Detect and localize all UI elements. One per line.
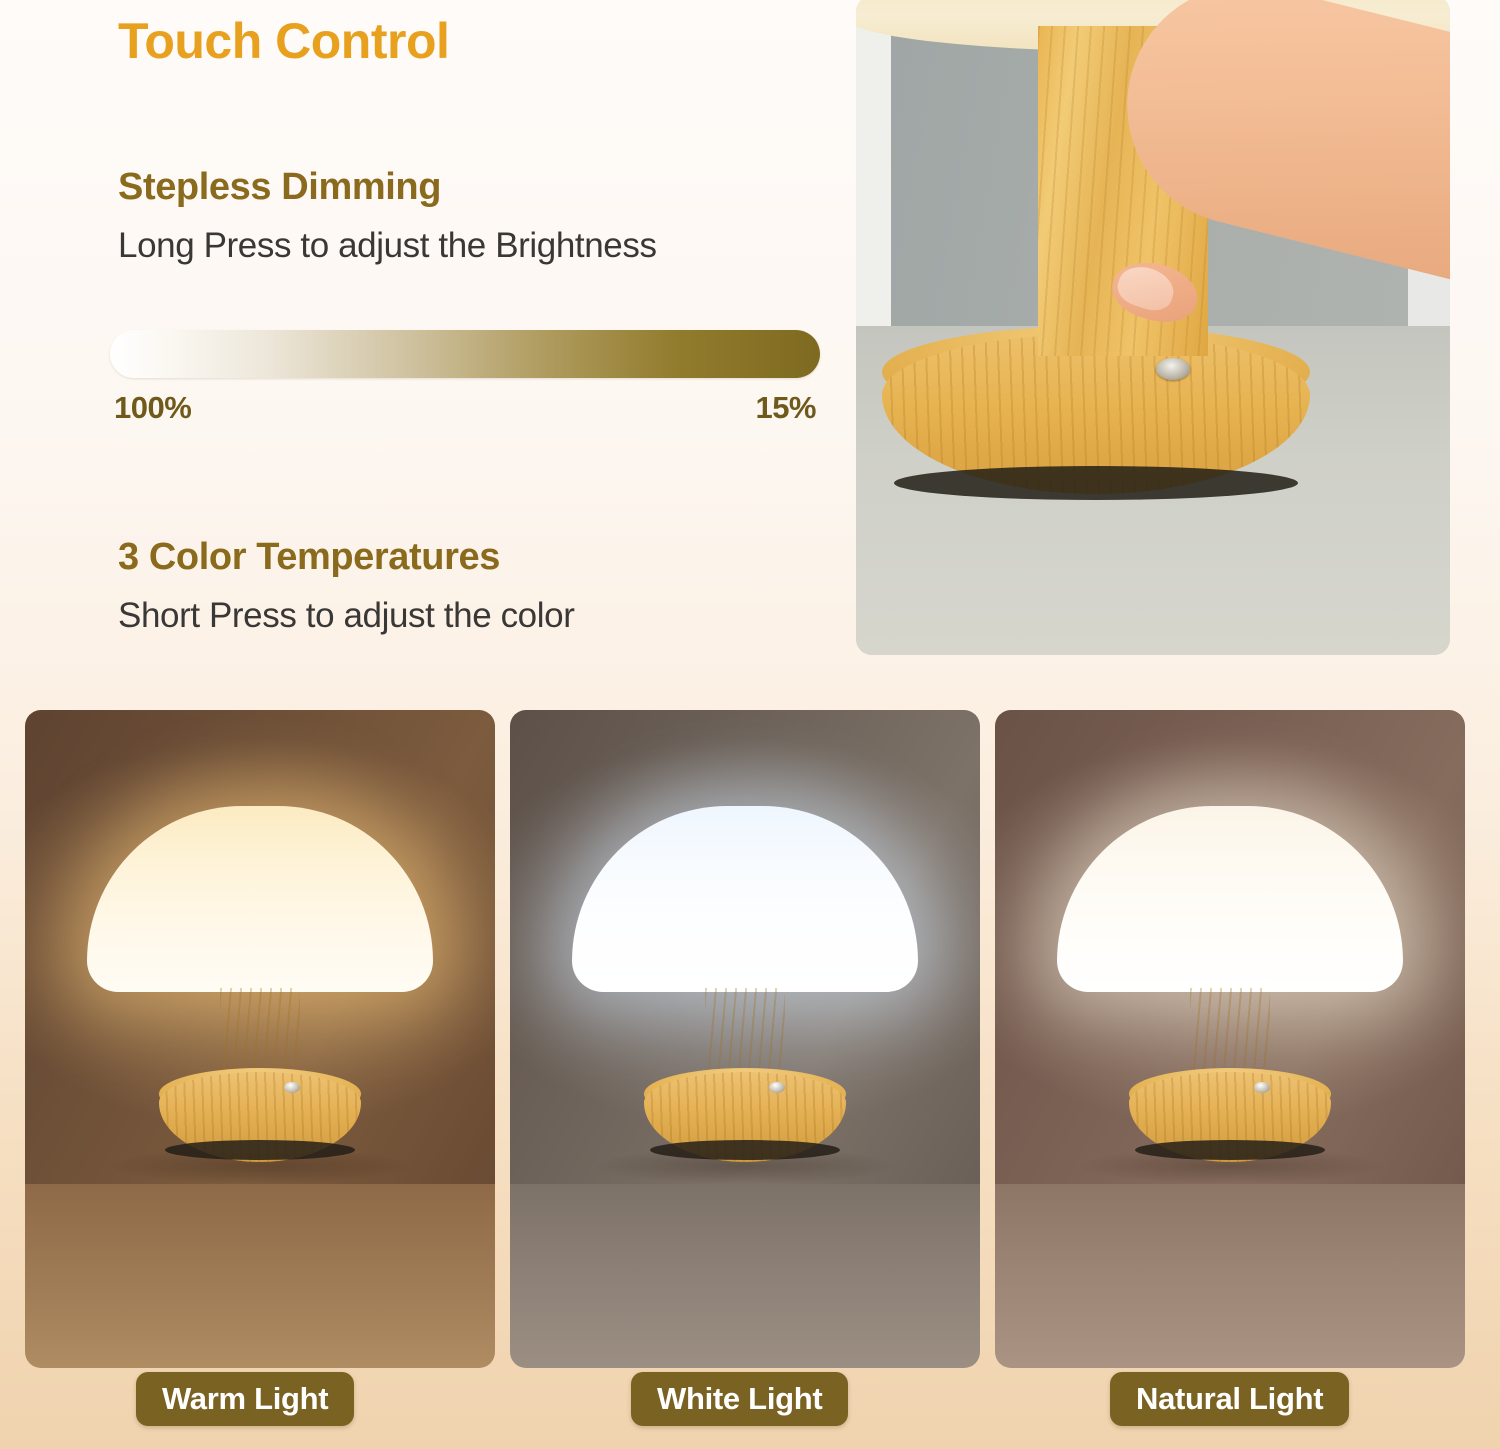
lamp-photo-natural-light — [995, 710, 1465, 1368]
label-white-light: White Light — [631, 1372, 848, 1426]
page-title: Touch Control — [118, 14, 449, 69]
photo-wall-left — [856, 24, 891, 364]
photo-floor — [25, 1184, 495, 1368]
brightness-max-value: 100% — [114, 390, 191, 426]
lamp-base-rim — [165, 1140, 355, 1160]
brightness-gradient-bar — [110, 330, 820, 378]
lamp-photo-white-light — [510, 710, 980, 1368]
lamp-base-rim — [650, 1140, 840, 1160]
touch-control-section: Touch Control Stepless Dimming Long Pres… — [0, 0, 860, 700]
color-temperature-labels: Warm Light White Light Natural Light — [0, 1372, 1500, 1434]
lamp-base-rim — [1135, 1140, 1325, 1160]
lamp-touch-sensor-screw — [284, 1082, 300, 1093]
touch-demo-photo — [856, 0, 1450, 655]
brightness-scale: 100% 15% — [110, 390, 820, 426]
lamp-touch-sensor-screw — [769, 1082, 785, 1093]
feature-color-temperatures: 3 Color Temperatures Short Press to adju… — [118, 536, 848, 636]
feature-subtitle: Short Press to adjust the color — [118, 596, 848, 636]
lamp-base-rim — [894, 466, 1298, 500]
label-warm-light: Warm Light — [136, 1372, 354, 1426]
photo-floor — [995, 1184, 1465, 1368]
feature-subtitle: Long Press to adjust the Brightness — [118, 226, 848, 266]
lamp-touch-sensor-screw — [1254, 1082, 1270, 1093]
feature-heading: Stepless Dimming — [118, 166, 848, 210]
lamp-photo-warm-light — [25, 710, 495, 1368]
lamp-touch-sensor-screw — [1156, 358, 1190, 380]
brightness-min-value: 15% — [755, 390, 816, 426]
dimming-meter: 100% 15% — [110, 330, 820, 426]
color-temperature-gallery — [0, 710, 1500, 1370]
label-natural-light: Natural Light — [1110, 1372, 1349, 1426]
feature-heading: 3 Color Temperatures — [118, 536, 848, 580]
photo-floor — [510, 1184, 980, 1368]
feature-stepless-dimming: Stepless Dimming Long Press to adjust th… — [118, 166, 848, 266]
